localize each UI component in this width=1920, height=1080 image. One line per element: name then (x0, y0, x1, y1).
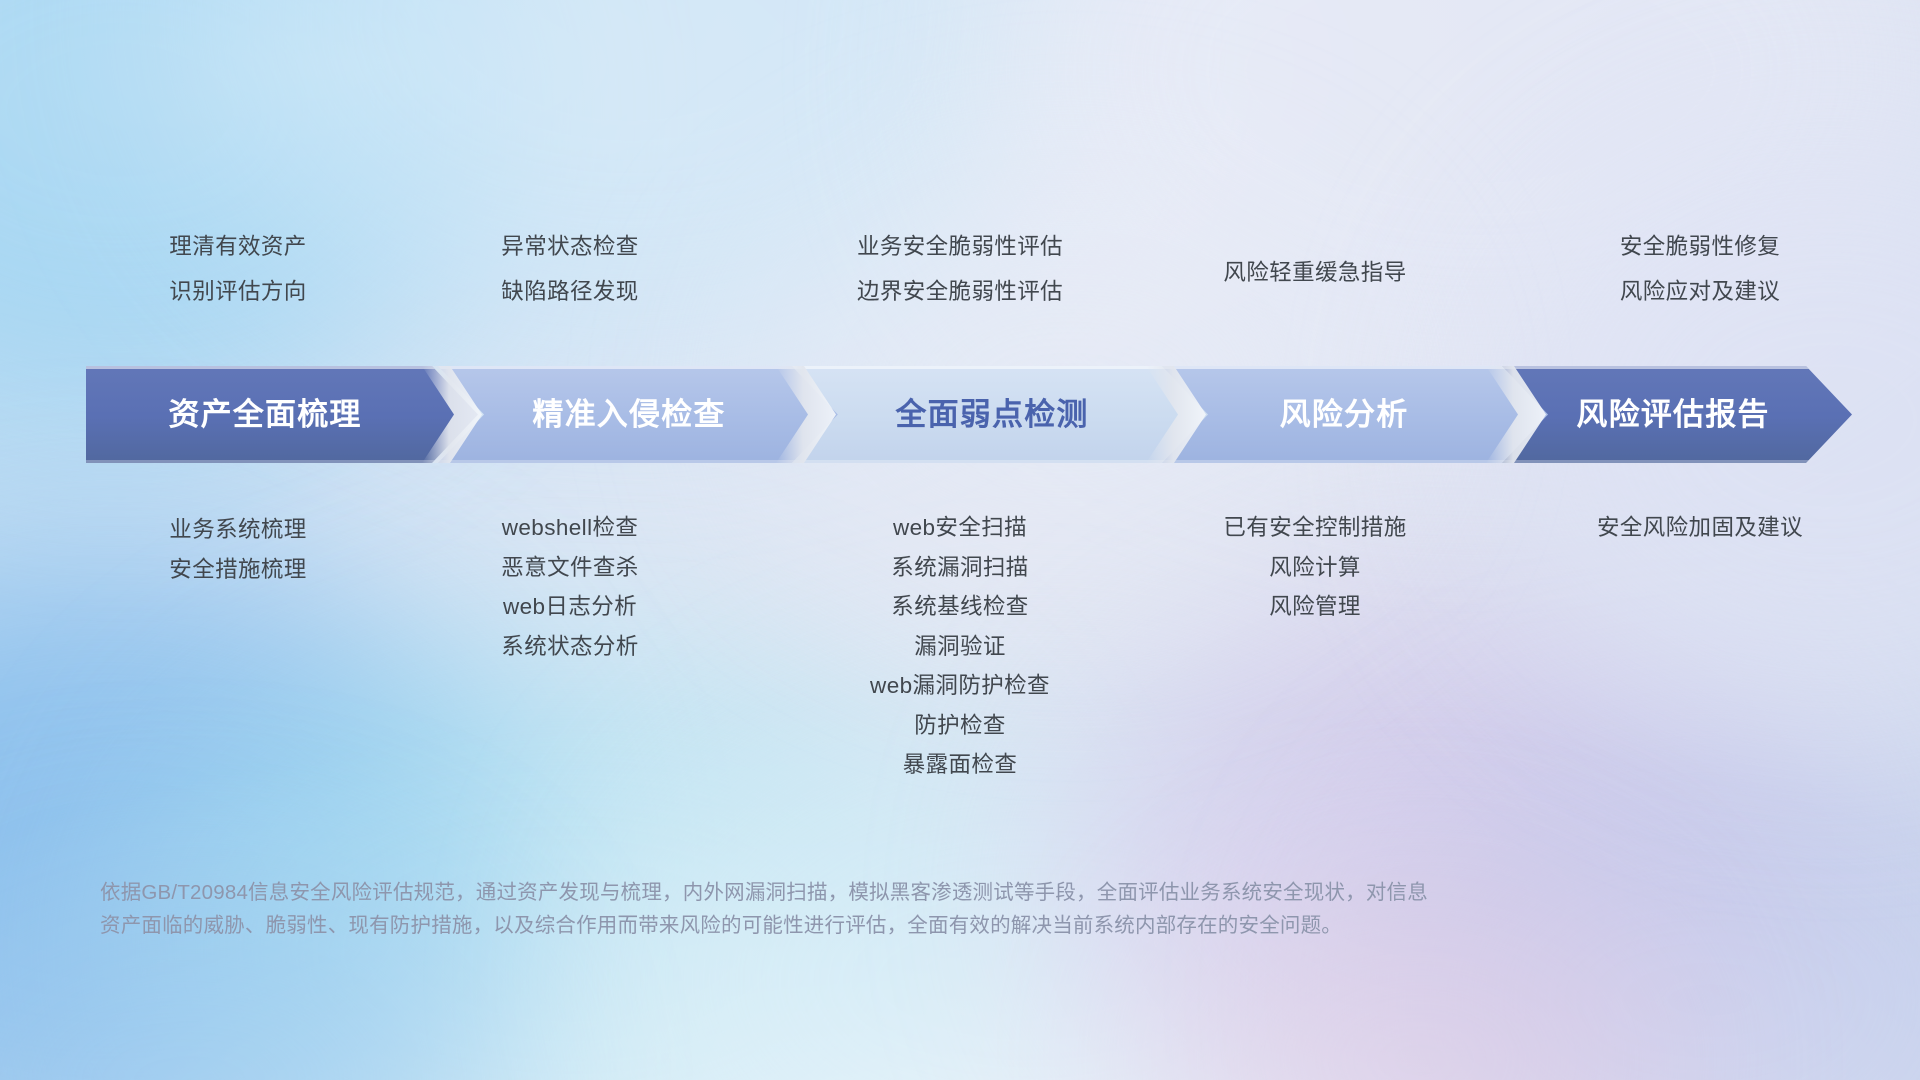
list-item: 风险轻重缓急指导 (1105, 262, 1525, 285)
chevron-label: 风险分析 (1280, 399, 1409, 430)
list-item: 防护检查 (760, 715, 1160, 738)
chevron-stage-risk-report[interactable]: 风险评估报告 (1502, 366, 1852, 463)
list-item: 安全风险加固及建议 (1480, 517, 1920, 540)
list-item: web安全扫描 (760, 517, 1160, 540)
list-item: 业务安全脆弱性评估 (760, 236, 1160, 259)
list-item: 系统漏洞扫描 (760, 557, 1160, 580)
list-item: 风险应对及建议 (1490, 281, 1910, 304)
stage-top-list-risk-report: 安全脆弱性修复 风险应对及建议 (1490, 236, 1910, 303)
stage-top-list-weakness-detection: 业务安全脆弱性评估 边界安全脆弱性评估 (760, 236, 1160, 303)
list-item: webshell检查 (380, 517, 760, 540)
stage-top-list-risk-analysis: 风险轻重缓急指导 (1105, 262, 1525, 285)
list-item: 漏洞验证 (760, 636, 1160, 659)
list-item: web漏洞防护检查 (760, 675, 1160, 698)
chevron-label: 风险评估报告 (1576, 399, 1769, 430)
list-item: 恶意文件查杀 (380, 557, 760, 580)
list-item: 已有安全控制措施 (1105, 517, 1525, 540)
process-chevron-band: 资产全面梳理 精准入侵检查 全面弱点检测 风险分析 (86, 366, 1852, 463)
footer-description: 依据GB/T20984信息安全风险评估规范，通过资产发现与梳理，内外网漏洞扫描，… (100, 876, 1800, 942)
stage-bottom-list-risk-report: 安全风险加固及建议 (1480, 517, 1920, 540)
chevron-stage-risk-analysis[interactable]: 风险分析 (1162, 366, 1550, 463)
chevron-label: 全面弱点检测 (895, 399, 1088, 430)
list-item: 安全脆弱性修复 (1490, 236, 1910, 259)
footer-line-1: 依据GB/T20984信息安全风险评估规范，通过资产发现与梳理，内外网漏洞扫描，… (100, 876, 1800, 909)
diagram-content: 理清有效资产 识别评估方向 异常状态检查 缺陷路径发现 业务安全脆弱性评估 边界… (0, 0, 1920, 1080)
list-item: 缺陷路径发现 (380, 281, 760, 304)
footer-line-2: 资产面临的威胁、脆弱性、现有防护措施，以及综合作用而带来风险的可能性进行评估，全… (100, 909, 1800, 942)
stage-bottom-list-weakness-detection: web安全扫描 系统漏洞扫描 系统基线检查 漏洞验证 web漏洞防护检查 防护检… (760, 517, 1160, 777)
list-item: 暴露面检查 (760, 754, 1160, 777)
chevron-bottom-highlight (1502, 460, 1852, 463)
stage-bottom-list-intrusion-check: webshell检查 恶意文件查杀 web日志分析 系统状态分析 (380, 517, 760, 658)
chevron-label: 精准入侵检查 (532, 399, 725, 430)
chevron-stage-intrusion-check[interactable]: 精准入侵检查 (438, 366, 838, 463)
chevron-stage-weakness-detection[interactable]: 全面弱点检测 (792, 366, 1212, 463)
chevron-bottom-highlight (86, 460, 478, 463)
slide-canvas: 理清有效资产 识别评估方向 异常状态检查 缺陷路径发现 业务安全脆弱性评估 边界… (0, 0, 1920, 1080)
chevron-top-highlight (86, 366, 478, 369)
list-item: 系统状态分析 (380, 636, 760, 659)
list-item: 风险计算 (1105, 557, 1525, 580)
list-item: 异常状态检查 (380, 236, 760, 259)
list-item: 边界安全脆弱性评估 (760, 281, 1160, 304)
chevron-top-highlight (1502, 366, 1852, 369)
list-item: web日志分析 (380, 596, 760, 619)
chevron-stage-asset-review[interactable]: 资产全面梳理 (86, 366, 478, 463)
stage-top-list-intrusion-check: 异常状态检查 缺陷路径发现 (380, 236, 760, 303)
list-item: 风险管理 (1105, 596, 1525, 619)
stage-bottom-list-risk-analysis: 已有安全控制措施 风险计算 风险管理 (1105, 517, 1525, 619)
chevron-label: 资产全面梳理 (168, 399, 361, 430)
list-item: 系统基线检查 (760, 596, 1160, 619)
